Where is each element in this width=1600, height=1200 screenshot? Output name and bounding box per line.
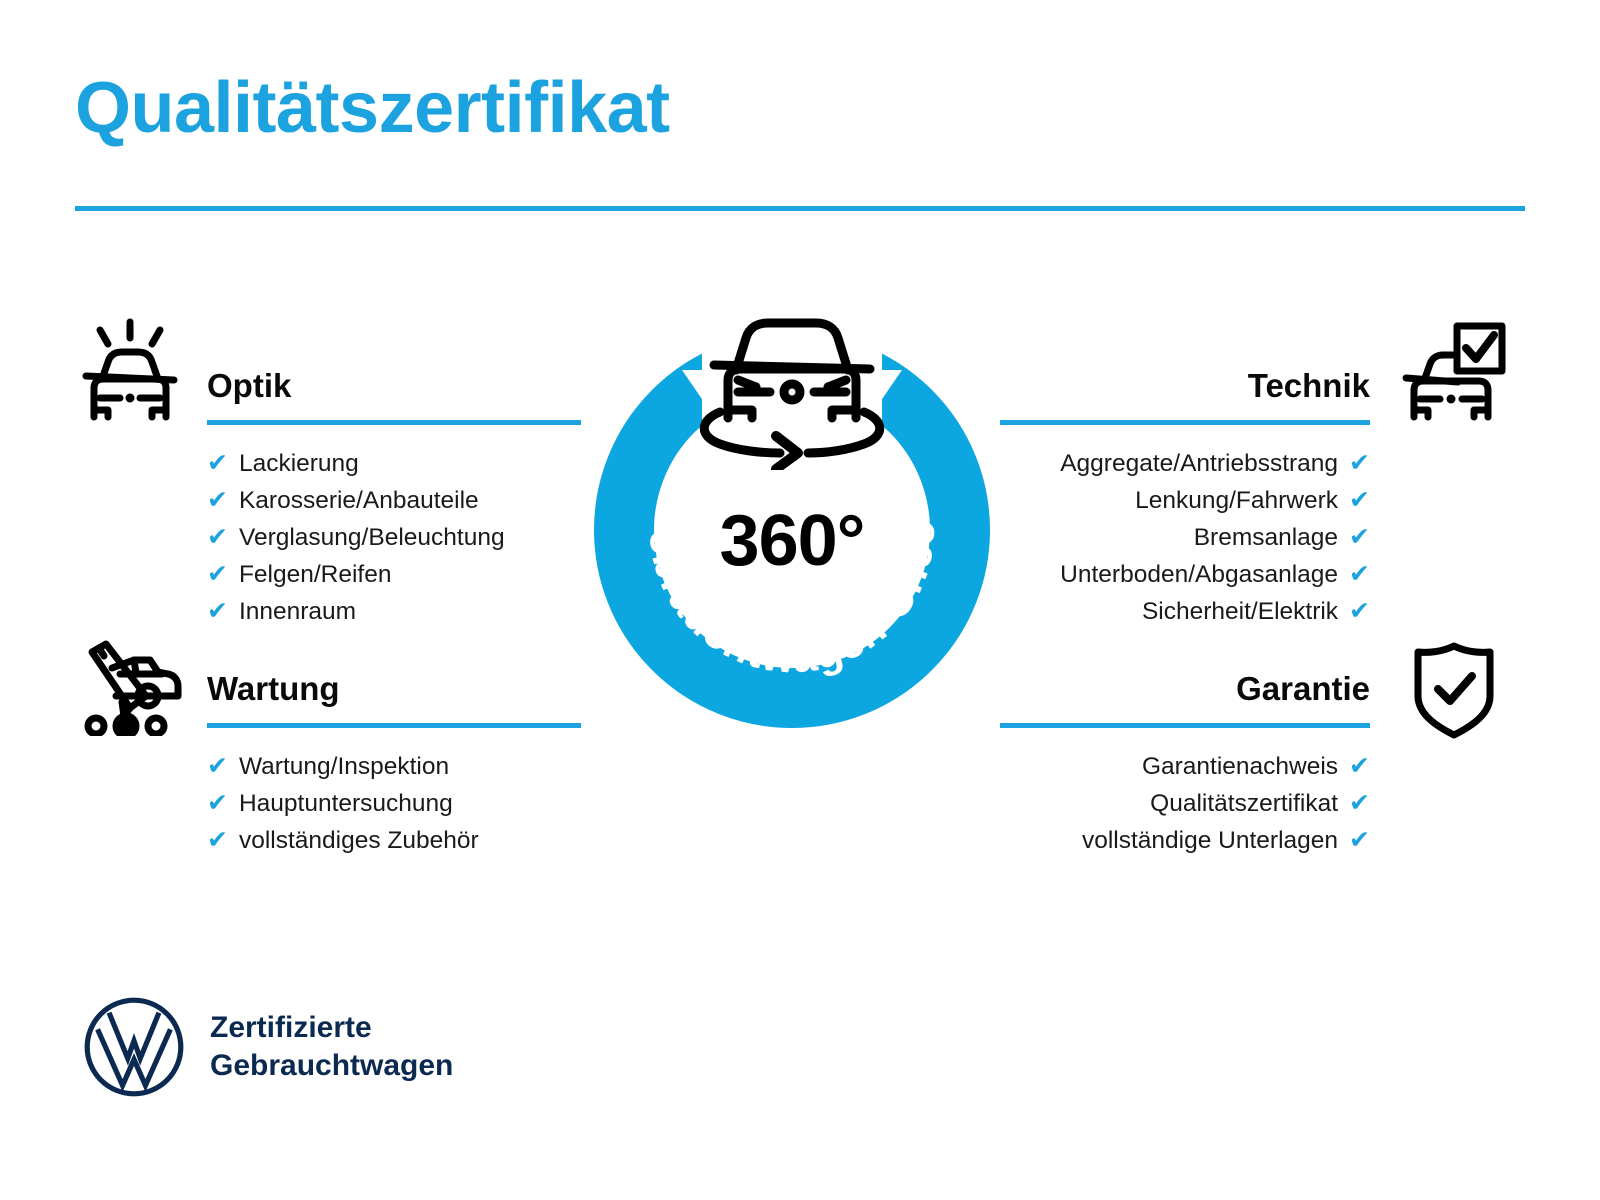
list-item-label: vollständige Unterlagen — [1082, 822, 1338, 859]
list-item-label: vollständiges Zubehör — [239, 822, 479, 859]
footer-line-1: Zertifizierte — [210, 1009, 453, 1047]
check-icon: ✔ — [207, 445, 228, 482]
list-item-label: Aggregate/Antriebsstrang — [1060, 445, 1338, 482]
list-item-label: Karosserie/Anbauteile — [239, 482, 479, 519]
section-technik-divider — [1000, 420, 1370, 425]
check-icon: ✔ — [1349, 445, 1370, 482]
check-icon: ✔ — [207, 748, 228, 785]
section-garantie-list: Garantienachweis✔ Qualitätszertifikat✔ v… — [1000, 748, 1370, 859]
list-item: vollständige Unterlagen✔ — [1000, 822, 1370, 859]
title-divider — [75, 206, 1525, 211]
check-icon: ✔ — [207, 822, 228, 859]
list-item: ✔vollständiges Zubehör — [207, 822, 581, 859]
section-garantie-title: Garantie — [1000, 666, 1370, 712]
shield-check-icon — [1410, 640, 1498, 745]
check-icon: ✔ — [207, 785, 228, 822]
list-item: ✔Wartung/Inspektion — [207, 748, 581, 785]
check-icon: ✔ — [1349, 822, 1370, 859]
section-optik: Optik ✔Lackierung ✔Karosserie/Anbauteile… — [207, 363, 581, 630]
section-wartung-header: Wartung — [207, 666, 581, 728]
list-item: ✔Verglasung/Beleuchtung — [207, 519, 581, 556]
list-item: ✔Felgen/Reifen — [207, 556, 581, 593]
check-icon: ✔ — [1349, 785, 1370, 822]
section-garantie: Garantie Garantienachweis✔ Qualitätszert… — [1000, 666, 1370, 859]
car-checkbox-icon — [1396, 320, 1508, 429]
list-item-label: Lenkung/Fahrwerk — [1135, 482, 1338, 519]
list-item: Aggregate/Antriebsstrang✔ — [1000, 445, 1370, 482]
section-wartung-title: Wartung — [207, 666, 581, 712]
check-icon: ✔ — [1349, 593, 1370, 630]
section-technik-title: Technik — [1000, 363, 1370, 409]
list-item-label: Innenraum — [239, 593, 356, 630]
certificate-page: Qualitätszertifikat — [0, 0, 1600, 1200]
list-item: ✔Hauptuntersuchung — [207, 785, 581, 822]
section-technik-list: Aggregate/Antriebsstrang✔ Lenkung/Fahrwe… — [1000, 445, 1370, 630]
list-item: Bremsanlage✔ — [1000, 519, 1370, 556]
footer-brand: Zertifizierte Gebrauchtwagen — [82, 995, 453, 1099]
check-icon: ✔ — [207, 482, 228, 519]
car-pencil-service-icon — [72, 638, 184, 741]
section-wartung-divider — [207, 723, 581, 728]
section-technik: Technik Aggregate/Antriebsstrang✔ Lenkun… — [1000, 363, 1370, 630]
section-wartung: Wartung ✔Wartung/Inspektion ✔Hauptunters… — [207, 666, 581, 859]
list-item-label: Sicherheit/Elektrik — [1142, 593, 1338, 630]
list-item: Qualitätszertifikat✔ — [1000, 785, 1370, 822]
footer-brand-text: Zertifizierte Gebrauchtwagen — [210, 1009, 453, 1085]
list-item: Lenkung/Fahrwerk✔ — [1000, 482, 1370, 519]
check-icon: ✔ — [207, 593, 228, 630]
section-optik-header: Optik — [207, 363, 581, 425]
check-icon: ✔ — [1349, 519, 1370, 556]
list-item: ✔Lackierung — [207, 445, 581, 482]
check-icon: ✔ — [207, 556, 228, 593]
list-item-label: Hauptuntersuchung — [239, 785, 453, 822]
section-optik-title: Optik — [207, 363, 581, 409]
badge-center-label: 360° — [562, 505, 1022, 577]
section-garantie-header: Garantie — [1000, 666, 1370, 728]
car-front-shine-icon — [72, 316, 188, 431]
list-item: Sicherheit/Elektrik✔ — [1000, 593, 1370, 630]
badge-360-check: Gebrauchtwagen-Check 360° — [562, 300, 1022, 760]
volkswagen-logo — [82, 995, 186, 1099]
section-optik-divider — [207, 420, 581, 425]
check-icon: ✔ — [1349, 748, 1370, 785]
list-item: Unterboden/Abgasanlage✔ — [1000, 556, 1370, 593]
list-item-label: Garantienachweis — [1142, 748, 1338, 785]
check-icon: ✔ — [1349, 482, 1370, 519]
list-item-label: Verglasung/Beleuchtung — [239, 519, 505, 556]
page-title: Qualitätszertifikat — [75, 72, 670, 144]
list-item-label: Bremsanlage — [1194, 519, 1338, 556]
section-wartung-list: ✔Wartung/Inspektion ✔Hauptuntersuchung ✔… — [207, 748, 581, 859]
footer-line-2: Gebrauchtwagen — [210, 1047, 453, 1085]
list-item-label: Lackierung — [239, 445, 359, 482]
list-item: ✔Karosserie/Anbauteile — [207, 482, 581, 519]
section-optik-list: ✔Lackierung ✔Karosserie/Anbauteile ✔Verg… — [207, 445, 581, 630]
list-item-label: Wartung/Inspektion — [239, 748, 449, 785]
list-item-label: Felgen/Reifen — [239, 556, 392, 593]
check-icon: ✔ — [207, 519, 228, 556]
section-technik-header: Technik — [1000, 363, 1370, 425]
list-item: Garantienachweis✔ — [1000, 748, 1370, 785]
check-icon: ✔ — [1349, 556, 1370, 593]
car-front-rotation-icon — [676, 308, 908, 470]
list-item: ✔Innenraum — [207, 593, 581, 630]
list-item-label: Qualitätszertifikat — [1150, 785, 1338, 822]
list-item-label: Unterboden/Abgasanlage — [1060, 556, 1338, 593]
section-garantie-divider — [1000, 723, 1370, 728]
